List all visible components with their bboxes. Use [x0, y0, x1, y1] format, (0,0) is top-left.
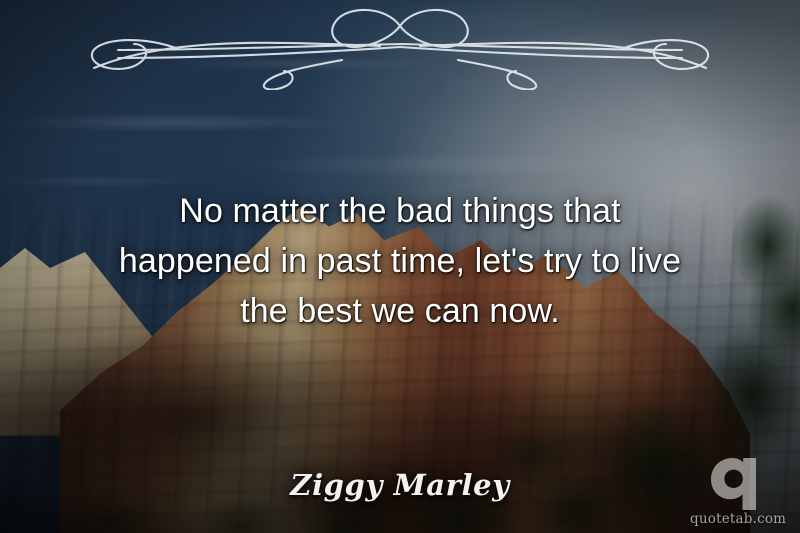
card-content: No matter the bad things that happened i…: [0, 0, 800, 533]
quote-line-2: happened in past time, let's try to live: [44, 236, 756, 286]
quote-line-1: No matter the bad things that: [44, 186, 756, 236]
quote-author: Ziggy Marley: [0, 468, 800, 502]
quotetab-q-logo-icon: [710, 458, 766, 510]
quote-text: No matter the bad things that happened i…: [44, 186, 756, 336]
quote-line-3: the best we can now.: [44, 286, 756, 336]
quotetab-site-label: quotetab.com: [690, 511, 786, 527]
site-watermark: quotetab.com: [690, 458, 786, 527]
quote-card: No matter the bad things that happened i…: [0, 0, 800, 533]
flourish-ornament-icon: [80, 8, 720, 90]
